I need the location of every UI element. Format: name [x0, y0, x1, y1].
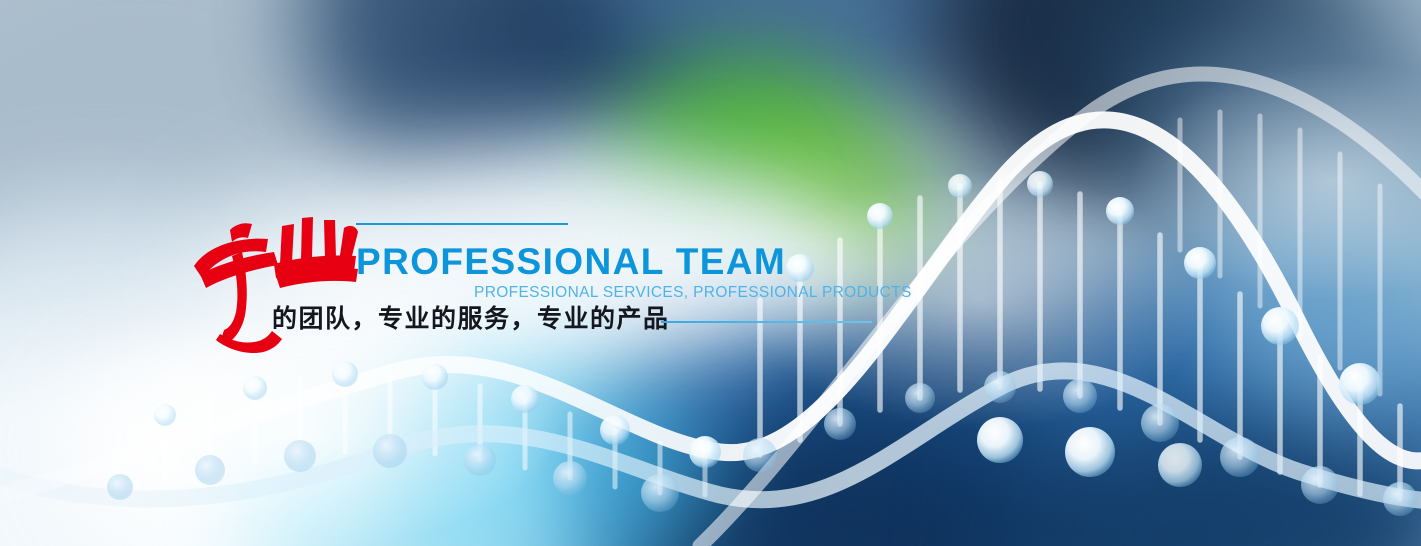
page-title: PROFESSIONAL TEAM — [356, 243, 786, 280]
hero-banner: PROFESSIONAL TEAM PROFESSIONAL SERVICES,… — [0, 0, 1421, 546]
decorative-rule-bottom — [661, 321, 872, 323]
banner-copy: PROFESSIONAL TEAM PROFESSIONAL SERVICES,… — [0, 0, 1421, 546]
decorative-rule-top — [356, 223, 568, 225]
page-subtitle: PROFESSIONAL SERVICES, PROFESSIONAL PROD… — [474, 285, 912, 301]
tagline-chinese: 的团队，专业的服务，专业的产品 — [272, 306, 670, 331]
